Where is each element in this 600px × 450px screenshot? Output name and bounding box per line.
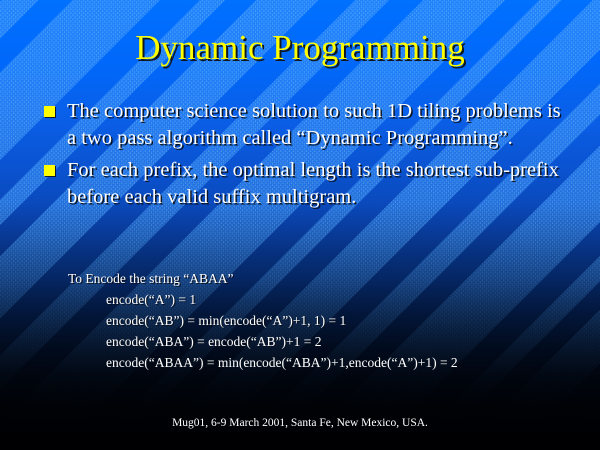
- bullet-item: For each prefix, the optimal length is t…: [44, 157, 564, 210]
- example-line: encode(“AB”) = min(encode(“A”)+1, 1) = 1: [68, 310, 588, 331]
- slide-footer: Mug01, 6-9 March 2001, Santa Fe, New Mex…: [0, 416, 600, 430]
- square-bullet-icon: [44, 165, 55, 176]
- example-heading: To Encode the string “ABAA”: [68, 268, 588, 289]
- example-line: encode(“ABAA”) = min(encode(“ABA”)+1,enc…: [68, 352, 588, 373]
- bullet-item-text: For each prefix, the optimal length is t…: [67, 157, 564, 210]
- bullet-list: The computer science solution to such 1D…: [44, 98, 564, 216]
- example-line: encode(“A”) = 1: [68, 289, 588, 310]
- presentation-slide: Dynamic Programming The computer science…: [0, 0, 600, 450]
- encoding-example-block: To Encode the string “ABAA” encode(“A”) …: [68, 268, 588, 373]
- bullet-item-text: The computer science solution to such 1D…: [67, 98, 564, 151]
- bullet-item: The computer science solution to such 1D…: [44, 98, 564, 151]
- square-bullet-icon: [44, 106, 55, 117]
- example-line: encode(“ABA”) = encode(“AB”)+1 = 2: [68, 331, 588, 352]
- slide-title: Dynamic Programming: [0, 28, 600, 68]
